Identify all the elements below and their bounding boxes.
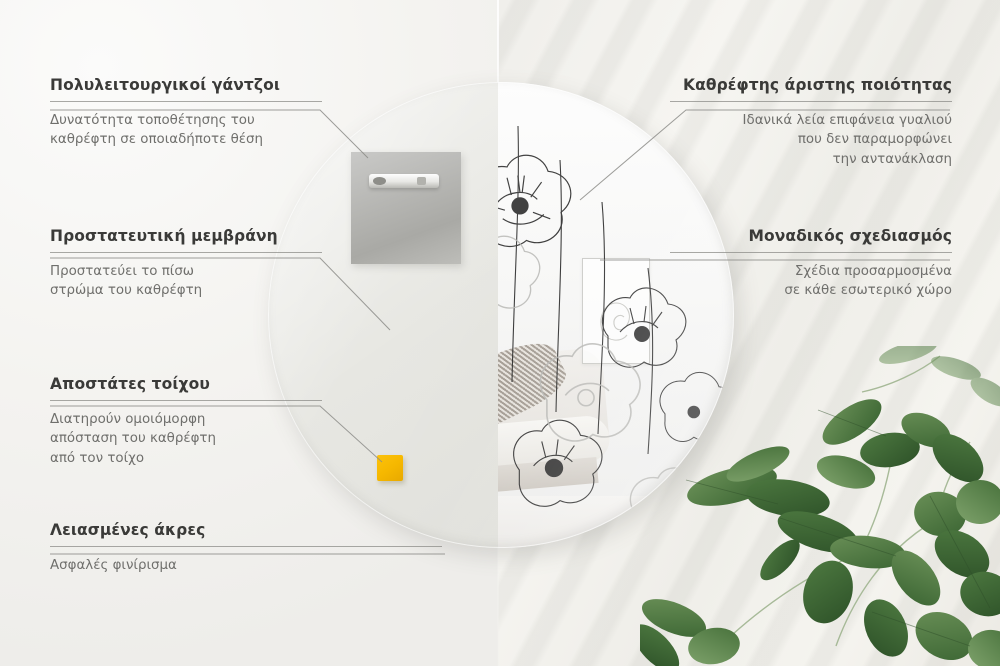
hook-bar bbox=[369, 174, 439, 188]
line-art-sketch-icon bbox=[583, 259, 649, 363]
callout-protective-membrane[interactable]: Προστατευτική μεμβράνη Προστατεύει το πί… bbox=[50, 227, 322, 301]
callout-rule bbox=[670, 252, 952, 253]
callout-description: Προστατεύει το πίσω στρώμα του καθρέφτη bbox=[50, 262, 322, 301]
hook-hole bbox=[373, 177, 386, 185]
wall-art-frame bbox=[582, 258, 650, 364]
callout-description: Ασφαλές φινίρισμα bbox=[50, 556, 442, 575]
callout-rule bbox=[50, 546, 442, 547]
callout-description: Ιδανικά λεία επιφάνεια γυαλιού που δεν π… bbox=[670, 111, 952, 169]
round-mirror-product bbox=[268, 82, 734, 548]
callout-description: Διατηρούν ομοιόμορφη απόσταση του καθρέφ… bbox=[50, 410, 322, 468]
callout-wall-spacers[interactable]: Αποστάτες τοίχου Διατηρούν ομοιόμορφη απ… bbox=[50, 375, 322, 468]
callout-title: Πολυλειτουργικοί γάντζοι bbox=[50, 76, 322, 94]
callout-description: Σχέδια προσαρμοσμένα σε κάθε εσωτερικό χ… bbox=[670, 262, 952, 301]
callout-rule bbox=[670, 101, 952, 102]
callout-top-quality-mirror[interactable]: Καθρέφτης άριστης ποιότητας Ιδανικά λεία… bbox=[670, 76, 952, 169]
callout-title: Προστατευτική μεμβράνη bbox=[50, 227, 322, 245]
callout-title: Αποστάτες τοίχου bbox=[50, 375, 322, 393]
infographic-canvas: Πολυλειτουργικοί γάντζοι Δυνατότητα τοπο… bbox=[0, 0, 1000, 666]
callout-polished-edges[interactable]: Λειασμένες άκρες Ασφαλές φινίρισμα bbox=[50, 521, 442, 575]
floor bbox=[498, 496, 734, 548]
callout-multifunctional-hooks[interactable]: Πολυλειτουργικοί γάντζοι Δυνατότητα τοπο… bbox=[50, 76, 322, 150]
callout-rule bbox=[50, 252, 322, 253]
callout-title: Μοναδικός σχεδιασμός bbox=[670, 227, 952, 245]
callout-rule bbox=[50, 101, 322, 102]
wall-spacer-hardware bbox=[377, 455, 403, 481]
hook-plate-hardware bbox=[351, 152, 461, 264]
callout-unique-design[interactable]: Μοναδικός σχεδιασμός Σχέδια προσαρμοσμέν… bbox=[670, 227, 952, 301]
callout-title: Καθρέφτης άριστης ποιότητας bbox=[670, 76, 952, 94]
hook-slot bbox=[417, 177, 426, 185]
callout-description: Δυνατότητα τοποθέτησης του καθρέφτη σε ο… bbox=[50, 111, 322, 150]
callout-title: Λειασμένες άκρες bbox=[50, 521, 442, 539]
callout-rule bbox=[50, 400, 322, 401]
